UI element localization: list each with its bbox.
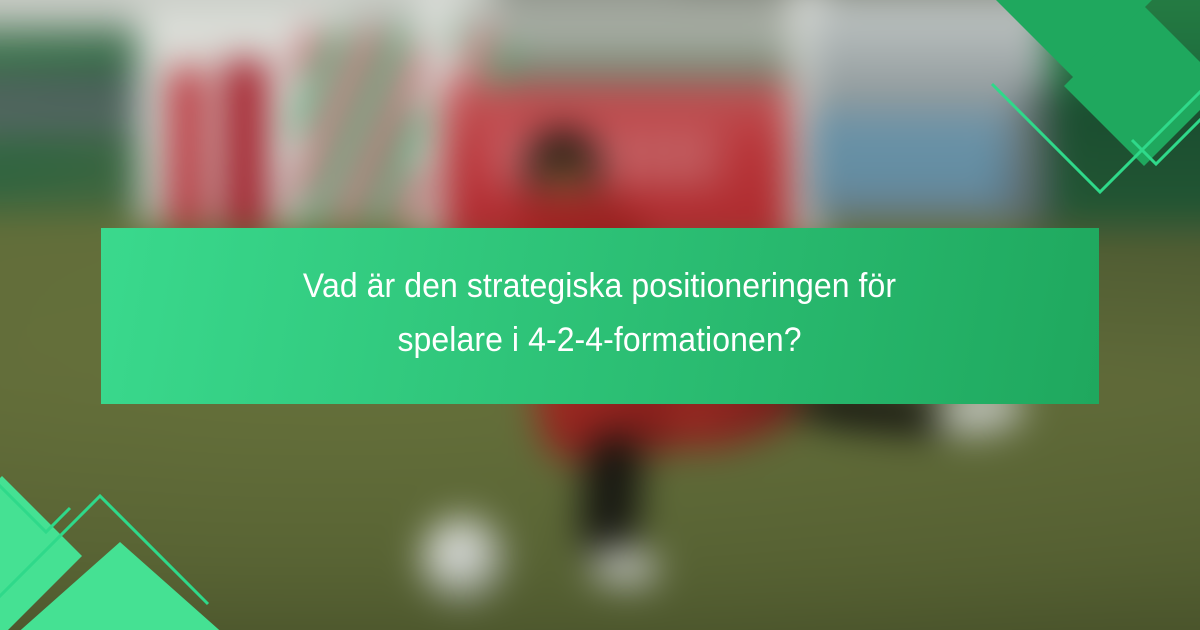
social-share-card: Vad är den strategiska positioneringen f…: [0, 0, 1200, 630]
headline-title: Vad är den strategiska positioneringen f…: [303, 260, 896, 367]
headline-banner: Vad är den strategiska positioneringen f…: [101, 228, 1099, 404]
